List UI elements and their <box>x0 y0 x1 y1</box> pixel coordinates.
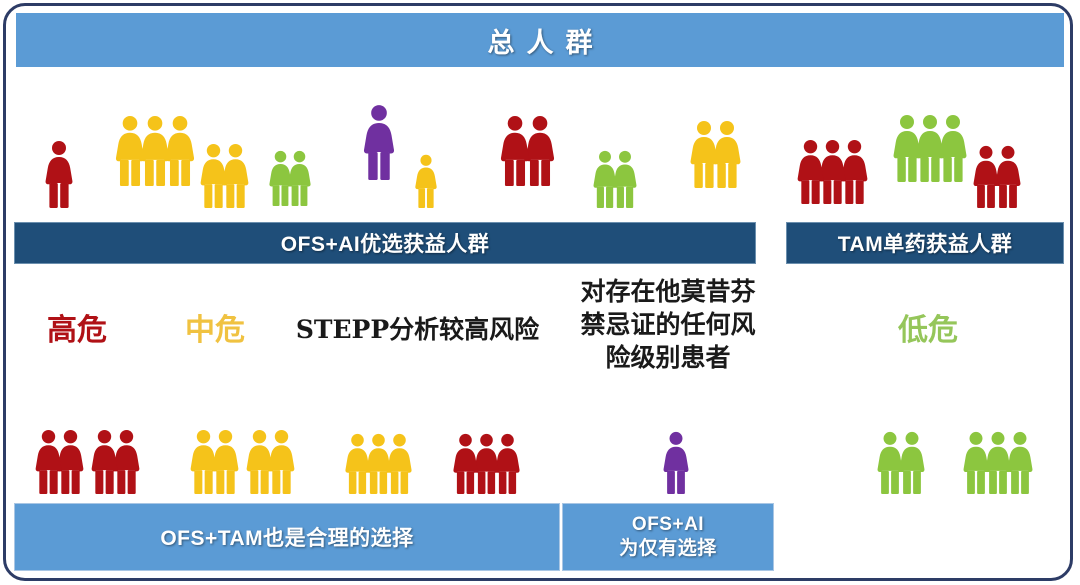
person-icon <box>796 139 825 204</box>
group-green-pair <box>876 431 926 494</box>
group-green-2a <box>268 150 312 206</box>
person-icon <box>592 150 618 208</box>
banner-total-population: 总人群 <box>16 13 1064 67</box>
person-icon <box>662 431 690 494</box>
person-icon <box>90 429 119 494</box>
group-red-2b <box>972 145 1022 208</box>
person-icon <box>245 429 274 494</box>
label-tamoxifen-contraindication: 对存在他莫昔芬 禁忌证的任何风 险级别患者 <box>552 275 784 374</box>
person-icon <box>34 429 63 494</box>
group-green-3 <box>892 114 968 182</box>
person-icon <box>362 104 396 180</box>
person-icon <box>452 433 479 494</box>
label-stepp-high-risk: STEPP分析较高风险 <box>290 310 545 346</box>
group-purple-1 <box>362 104 396 180</box>
group-yellow-2 <box>199 143 250 208</box>
person-icon <box>689 120 719 188</box>
group-yellow-3 <box>114 115 196 186</box>
group-red-trio <box>452 433 521 494</box>
label-high-risk: 高危 <box>22 305 132 349</box>
group-red-3 <box>796 139 869 204</box>
label-low-risk: 低危 <box>858 305 998 349</box>
person-icon <box>414 154 438 208</box>
group-yellow-2b <box>689 120 742 188</box>
group-green-2b <box>592 150 638 208</box>
group-yellow-1 <box>414 154 438 208</box>
group-red-1 <box>44 140 74 208</box>
group-yellow-pair-2 <box>245 429 296 494</box>
person-icon <box>972 145 1000 208</box>
pictogram-row-total-population <box>14 88 1066 208</box>
person-icon <box>44 140 74 208</box>
banner-ofs-tam-reasonable: OFS+TAM也是合理的选择 <box>14 503 560 571</box>
group-red-pair-2 <box>90 429 141 494</box>
banner-tam-mono-benefit: TAM单药获益人群 <box>786 222 1064 264</box>
group-yellow-trio <box>344 433 413 494</box>
label-medium-risk: 中危 <box>160 305 270 349</box>
group-red-pair-1 <box>34 429 85 494</box>
person-icon <box>199 143 228 208</box>
banner-ofs-ai-only-option: OFS+AI 为仅有选择 <box>562 503 774 571</box>
banner-ofs-ai-benefit: OFS+AI优选获益人群 <box>14 222 756 264</box>
person-icon <box>268 150 293 206</box>
group-red-2a <box>499 115 556 186</box>
group-yellow-pair-1 <box>189 429 240 494</box>
person-icon <box>892 114 922 182</box>
group-purple-single <box>662 431 690 494</box>
group-green-trio <box>962 431 1034 494</box>
person-icon <box>114 115 146 186</box>
person-icon <box>344 433 371 494</box>
banner-ofs-ai-only-line1: OFS+AI <box>632 513 704 537</box>
person-icon <box>962 431 990 494</box>
person-icon <box>499 115 531 186</box>
person-icon <box>876 431 904 494</box>
banner-ofs-ai-only-line2: 为仅有选择 <box>619 537 717 561</box>
infographic-root: 总人群 OFS+AI优选获益人群 TAM单药获益人群 高危 中危 STEPP分析… <box>0 0 1080 585</box>
pictogram-row-treatment-groups <box>14 412 1066 494</box>
person-icon <box>189 429 218 494</box>
